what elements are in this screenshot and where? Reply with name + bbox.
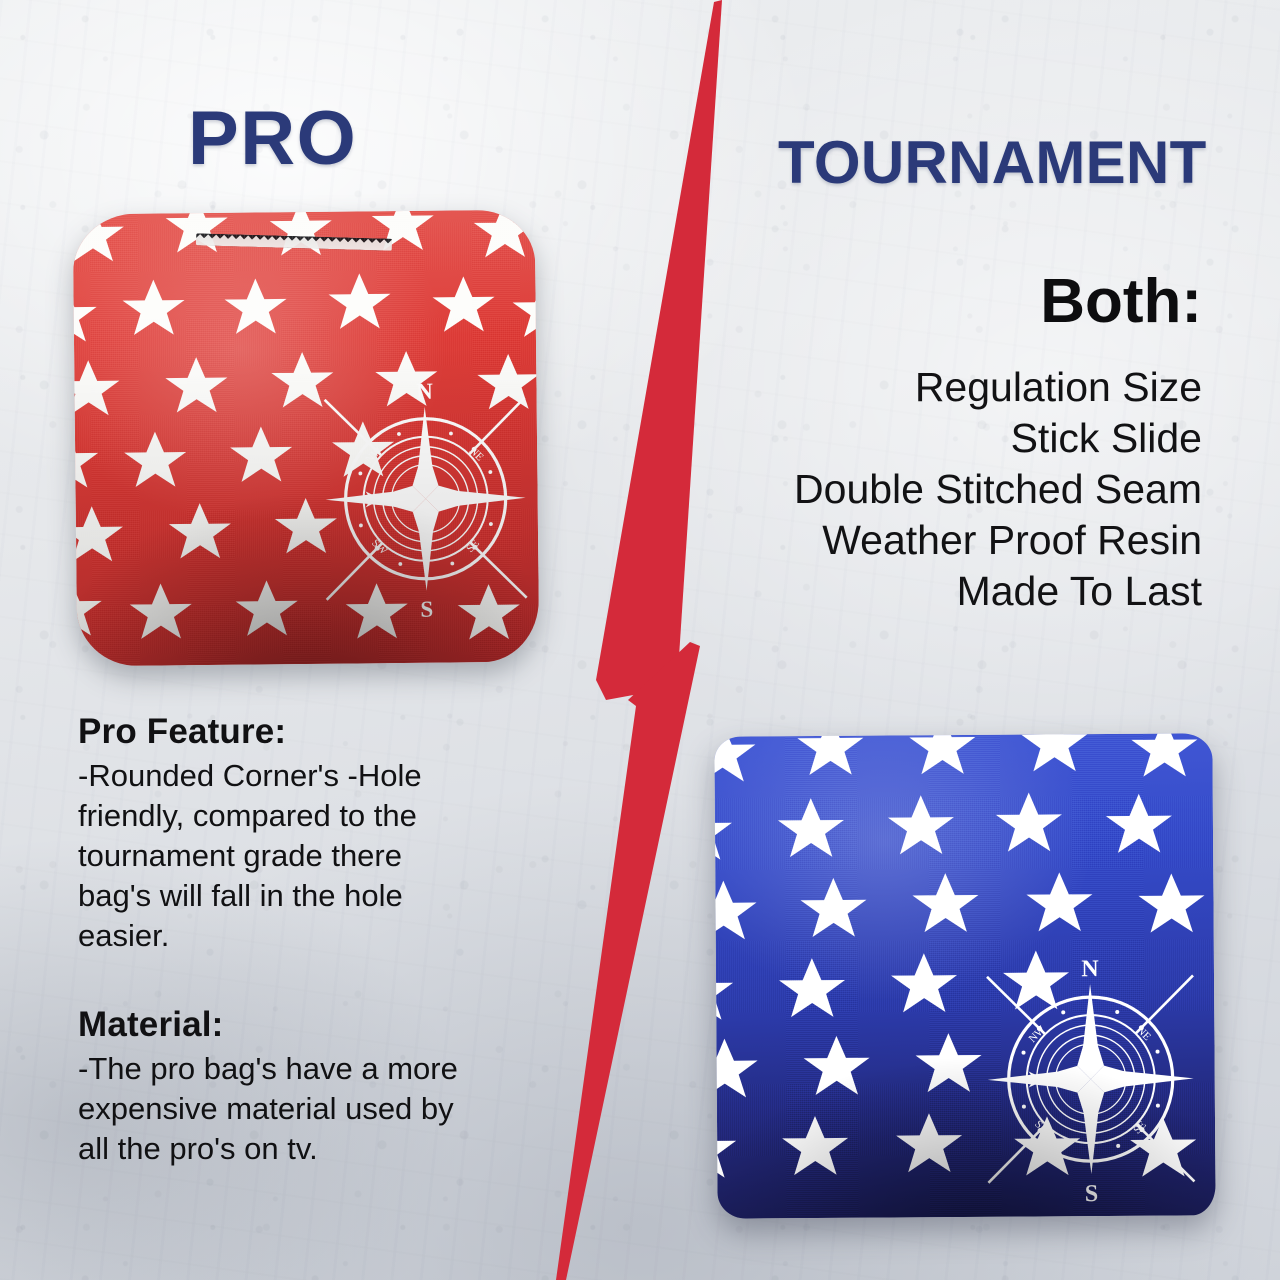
both-features-list: Regulation Size Stick Slide Double Stitc…	[642, 362, 1202, 617]
both-feature-item: Made To Last	[642, 566, 1202, 617]
material-body: -The pro bag's have a more expensive mat…	[78, 1049, 478, 1169]
material-block: Material: -The pro bag's have a more exp…	[78, 1005, 478, 1169]
pro-feature-body: -Rounded Corner's -Hole friendly, compar…	[78, 756, 478, 956]
pro-feature-block: Pro Feature: -Rounded Corner's -Hole fri…	[78, 712, 478, 956]
pro-bag-shading	[73, 210, 540, 667]
pro-title: PRO	[188, 95, 357, 182]
comparison-graphic: PRO	[0, 0, 1280, 1280]
tournament-bag-image: N S NW NE SW SE	[714, 733, 1215, 1218]
both-feature-item: Double Stitched Seam	[642, 464, 1202, 515]
pro-feature-heading: Pro Feature:	[78, 712, 478, 752]
material-heading: Material:	[78, 1005, 478, 1045]
both-feature-item: Weather Proof Resin	[642, 515, 1202, 566]
pro-bag-image: N S NW NE SW SE	[73, 210, 540, 667]
both-heading: Both:	[1040, 266, 1202, 337]
both-feature-item: Stick Slide	[642, 413, 1202, 464]
tournament-title: TOURNAMENT	[778, 128, 1207, 197]
both-feature-item: Regulation Size	[642, 362, 1202, 413]
tournament-bag-shading	[714, 733, 1215, 1218]
